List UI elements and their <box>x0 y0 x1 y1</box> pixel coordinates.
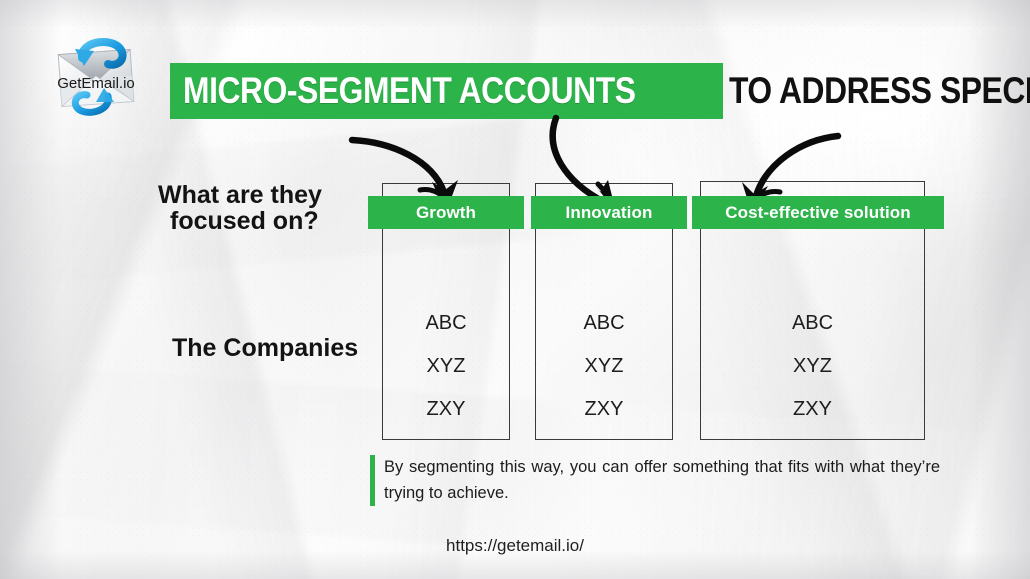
getemail-logo[interactable]: GetEmail.io <box>44 26 148 126</box>
list-item: XYZ <box>535 355 673 378</box>
caption: By segmenting this way, you can offer so… <box>370 455 940 506</box>
company-list-growth: ABC XYZ ZXY <box>382 312 510 421</box>
list-item: XYZ <box>700 355 925 378</box>
caption-accent-bar <box>370 455 375 506</box>
list-item: ZXY <box>535 398 673 421</box>
focus-band-innovation[interactable]: Innovation <box>531 196 687 229</box>
headline-highlight: MICRO-SEGMENT ACCOUNTS <box>170 63 723 119</box>
page-title: MICRO-SEGMENT ACCOUNTS TO ADDRESS SPECIF… <box>170 63 1030 119</box>
logo-text: GetEmail.io <box>57 75 135 92</box>
focus-band-cost-effective[interactable]: Cost-effective solution <box>692 196 944 229</box>
row-label-focus: What are they focused on? <box>158 183 373 234</box>
caption-text: By segmenting this way, you can offer so… <box>384 455 940 506</box>
list-item: ZXY <box>382 398 510 421</box>
company-list-cost-effective: ABC XYZ ZXY <box>700 312 925 421</box>
headline-rest: TO ADDRESS SPECIFIC NEEDS <box>729 63 1030 119</box>
list-item: XYZ <box>382 355 510 378</box>
slide-canvas: GetEmail.io MICRO-SEGMENT ACCOUNTS TO AD… <box>0 0 1030 579</box>
list-item: ABC <box>700 312 925 335</box>
envelope-with-circular-arrow-icon: GetEmail.io <box>44 26 148 126</box>
list-item: ZXY <box>700 398 925 421</box>
row-label-companies: The Companies <box>172 336 372 362</box>
headline-highlight-text: MICRO-SEGMENT ACCOUNTS <box>183 70 636 112</box>
company-list-innovation: ABC XYZ ZXY <box>535 312 673 421</box>
list-item: ABC <box>535 312 673 335</box>
headline-rest-text: TO ADDRESS SPECIFIC NEEDS <box>729 70 1030 112</box>
footer-url[interactable]: https://getemail.io/ <box>0 536 1030 556</box>
row-label-focus-line1: What are they <box>158 183 373 209</box>
focus-band-growth[interactable]: Growth <box>368 196 524 229</box>
row-label-focus-line2: focused on? <box>158 209 373 235</box>
list-item: ABC <box>382 312 510 335</box>
